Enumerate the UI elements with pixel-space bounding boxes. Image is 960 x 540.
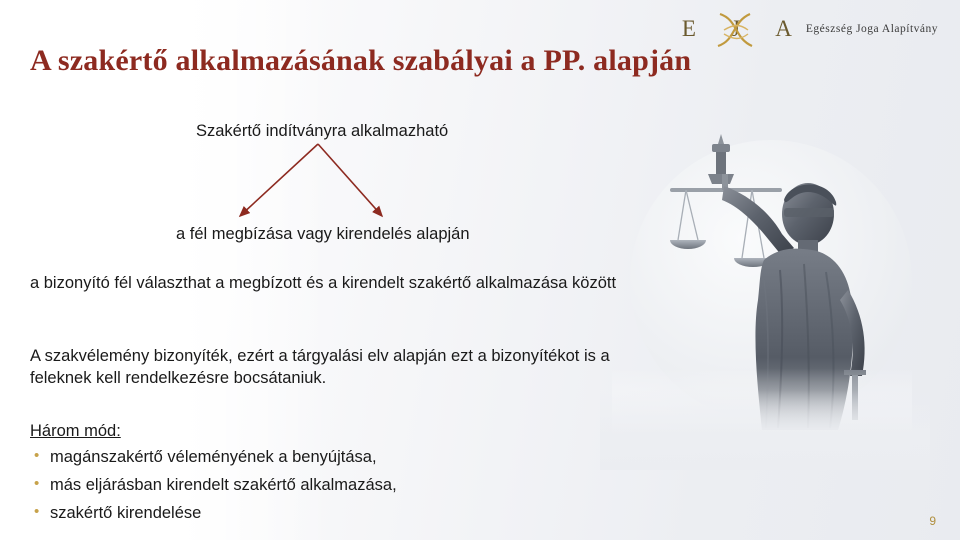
body-paragraph-1: a bizonyító fél választhat a megbízott é… xyxy=(30,272,630,294)
logo-letter-a: A xyxy=(775,16,792,42)
list-item: más eljárásban kirendelt szakértő alkalm… xyxy=(30,476,397,495)
list-item: szakértő kirendelése xyxy=(30,504,397,523)
logo-mark: E J A xyxy=(678,8,796,50)
logo-letter-e: E xyxy=(682,16,696,42)
bullet-list: magánszakértő véleményének a benyújtása,… xyxy=(30,448,397,532)
list-heading: Három mód: xyxy=(30,422,121,441)
logo: E J A Egészség Joga Alapítvány xyxy=(678,8,938,50)
dna-swirl-icon xyxy=(708,10,764,50)
logo-wordmark: Egészség Joga Alapítvány xyxy=(806,23,938,35)
slide: E J A Egészség Joga Alapítvány A szakért… xyxy=(0,0,960,540)
branching-arrows-icon xyxy=(230,140,450,230)
list-item: magánszakértő véleményének a benyújtása, xyxy=(30,448,397,467)
image-fade-overlay xyxy=(600,390,930,470)
page-number: 9 xyxy=(929,514,936,528)
body-paragraph-2: A szakvélemény bizonyíték, ezért a tárgy… xyxy=(30,345,650,390)
diagram-bottom-label: a fél megbízása vagy kirendelés alapján xyxy=(176,225,470,244)
page-title: A szakértő alkalmazásának szabályai a PP… xyxy=(30,44,691,78)
diagram-top-label: Szakértő indítványra alkalmazható xyxy=(196,122,448,141)
